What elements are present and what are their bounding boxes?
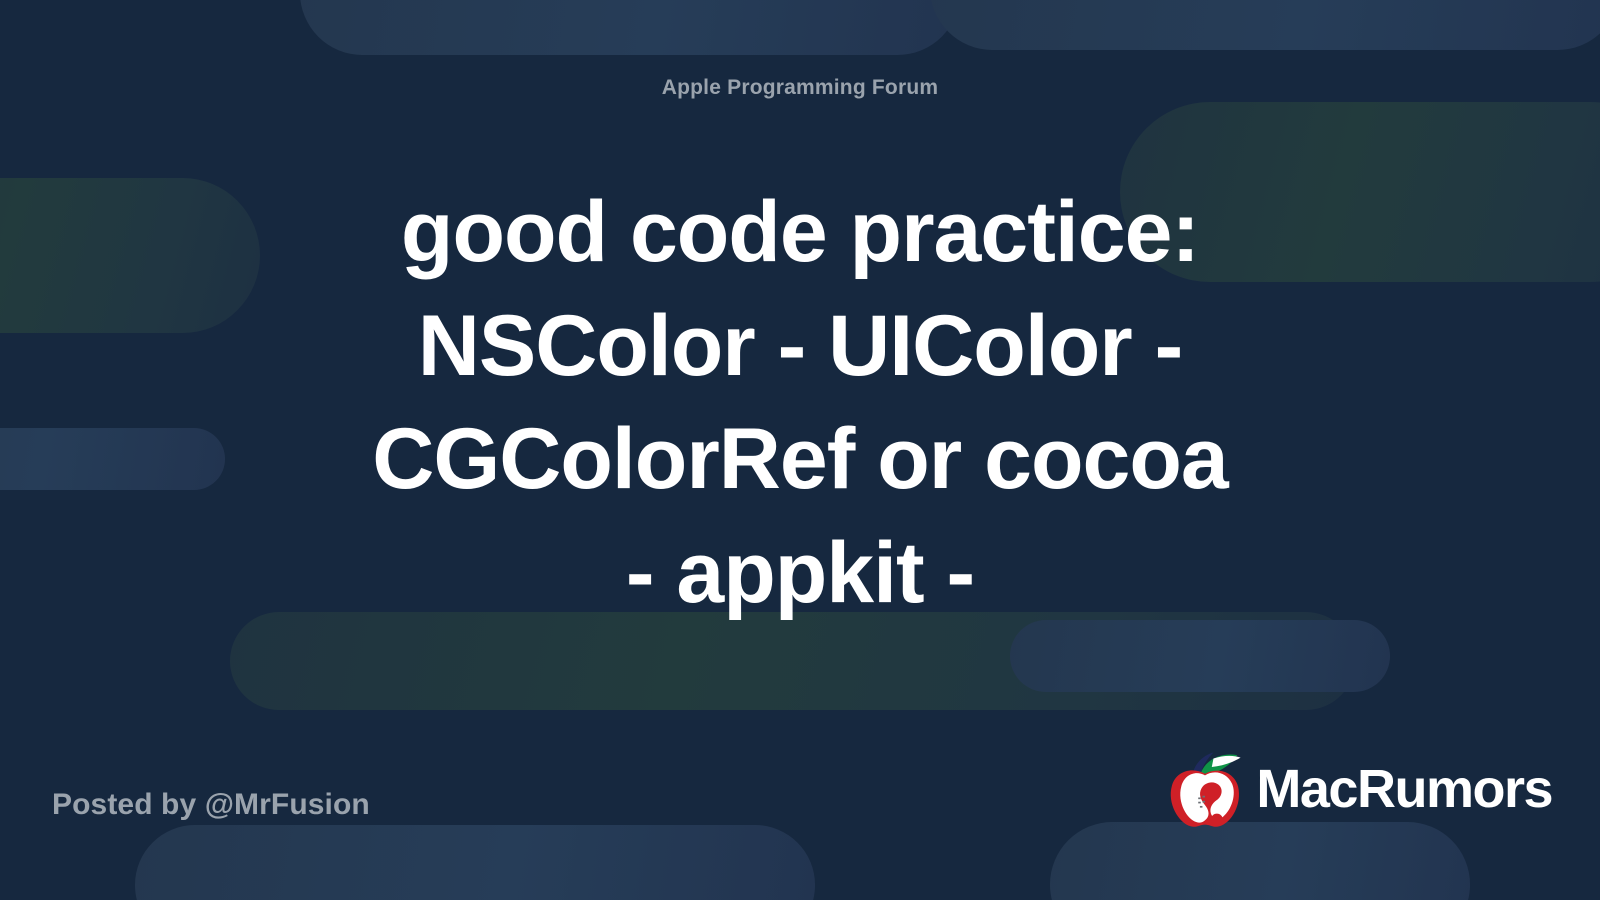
brand-lockup: MacRumors — [1162, 750, 1552, 828]
decorative-pill-top-right — [930, 0, 1600, 50]
posted-by-label: Posted by @MrFusion — [52, 788, 370, 822]
decorative-pill-top-left — [300, 0, 960, 55]
forum-label: Apple Programming Forum — [0, 76, 1600, 100]
title-line: - appkit - — [60, 517, 1540, 631]
macrumors-apple-logo-icon — [1162, 750, 1248, 828]
title-line: NSColor - UIColor - — [60, 290, 1540, 404]
decorative-pill-bottom-right — [1050, 822, 1470, 900]
page-title: good code practice: NSColor - UIColor - … — [60, 176, 1540, 630]
decorative-pill-right-mid — [1010, 620, 1390, 692]
title-line: good code practice: — [60, 176, 1540, 290]
title-line: CGColorRef or cocoa — [60, 403, 1540, 517]
brand-wordmark: MacRumors — [1256, 762, 1552, 816]
decorative-pill-bottom-left — [135, 825, 815, 900]
share-card: Apple Programming Forum good code practi… — [0, 0, 1600, 900]
